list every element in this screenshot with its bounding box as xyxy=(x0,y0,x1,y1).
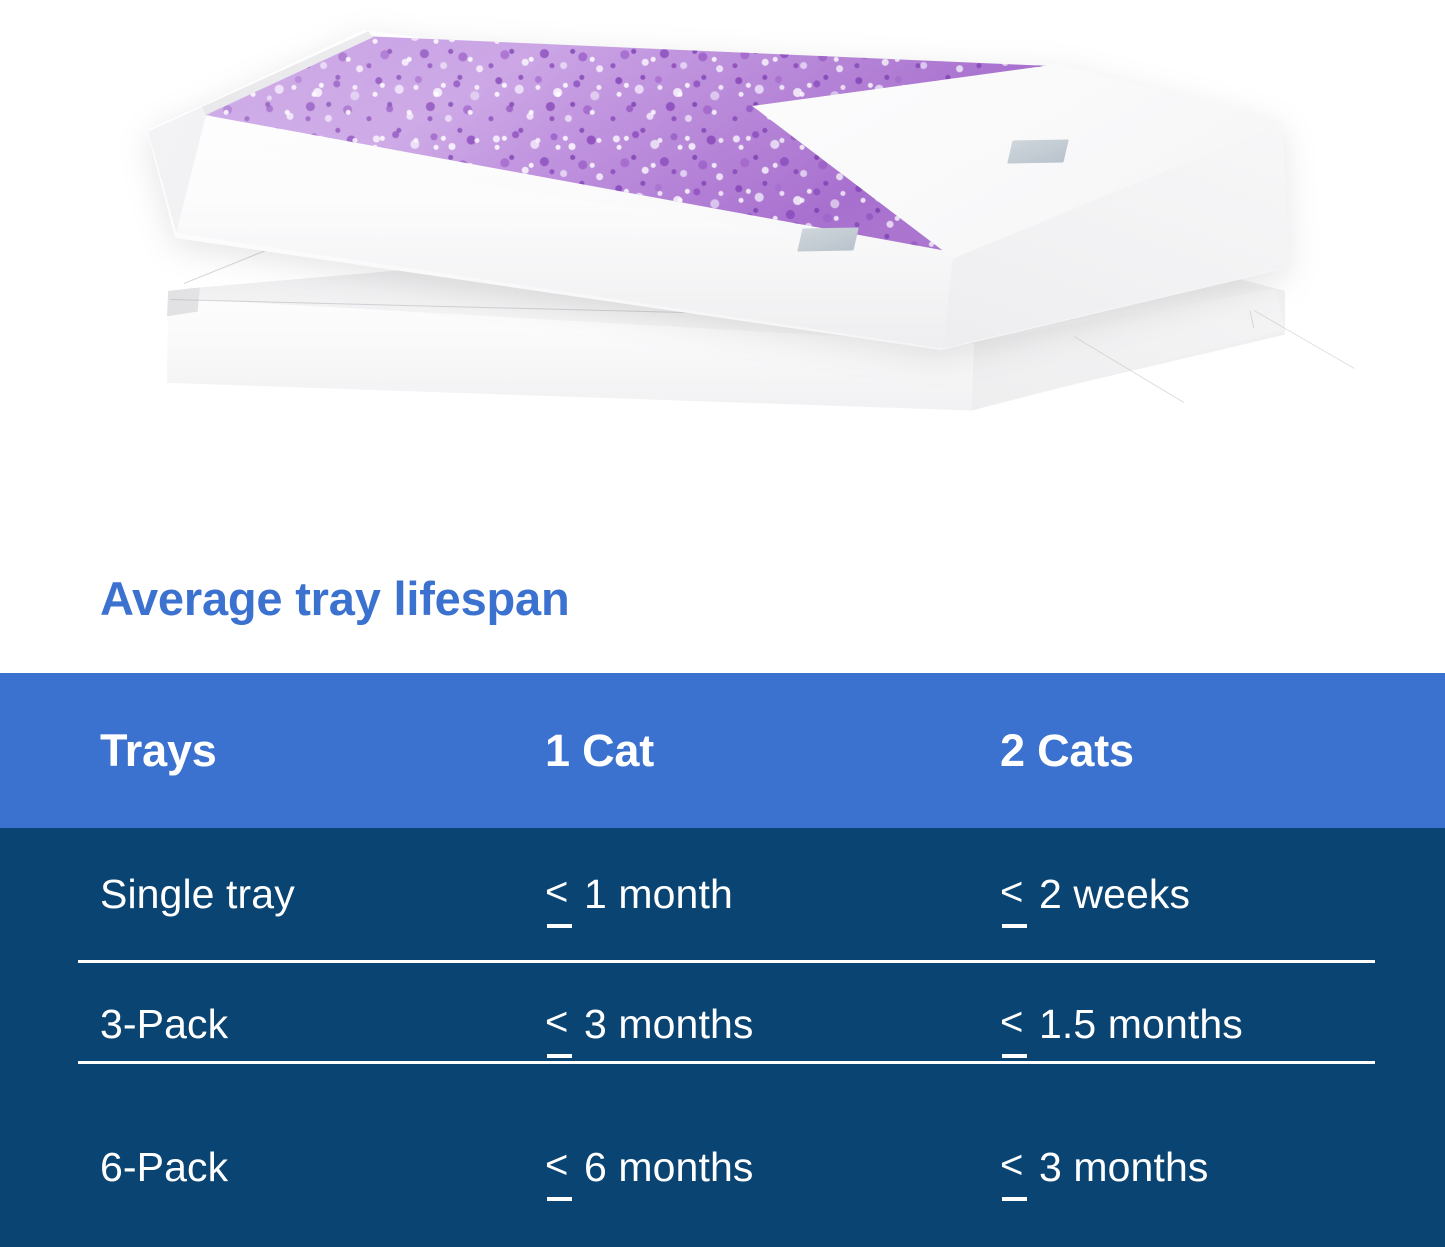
less-than-or-equal-icon: < xyxy=(1000,875,1030,915)
less-than-or-equal-icon: < xyxy=(545,1005,575,1045)
cell-one-cat-value: 3 months xyxy=(584,1001,753,1047)
cell-two-cats-lifespan: < 1.5 months xyxy=(1000,1001,1243,1048)
lte-underbar xyxy=(1002,1054,1027,1058)
lte-underbar xyxy=(547,1197,572,1201)
lte-underbar xyxy=(547,924,572,928)
lifespan-table: Trays 1 Cat 2 Cats Single tray < 1 month… xyxy=(0,673,1445,1247)
table-header: Trays 1 Cat 2 Cats xyxy=(0,673,1445,828)
cell-two-cats-value: 1.5 months xyxy=(1039,1001,1243,1047)
row-divider xyxy=(78,1061,1375,1064)
cell-two-cats-value: 3 months xyxy=(1039,1144,1208,1190)
upper-tray-fold-line-1 xyxy=(1074,336,1184,403)
upper-tray-fold-line-3 xyxy=(1254,310,1355,369)
less-than-or-equal-icon: < xyxy=(545,875,575,915)
less-than-or-equal-icon: < xyxy=(545,1148,575,1188)
cell-one-cat-value: 6 months xyxy=(584,1144,753,1190)
lte-underbar xyxy=(547,1054,572,1058)
cell-one-cat-lifespan: < 6 months xyxy=(545,1144,753,1191)
cell-tray-type: 3-Pack xyxy=(100,1001,228,1048)
table-row: 6-Pack < 6 months < 3 months xyxy=(0,1088,1445,1247)
table-row: 3-Pack < 3 months < 1.5 months xyxy=(0,960,1445,1088)
lte-underbar xyxy=(1002,1197,1027,1201)
column-header-two-cats: 2 Cats xyxy=(1000,725,1134,777)
upper-tray xyxy=(128,18,1306,418)
product-image-stage xyxy=(0,0,1445,560)
table-header-row: Trays 1 Cat 2 Cats xyxy=(0,673,1445,828)
cell-one-cat-lifespan: < 1 month xyxy=(545,871,733,918)
cell-two-cats-lifespan: < 2 weeks xyxy=(1000,871,1190,918)
page-title: Average tray lifespan xyxy=(100,571,570,626)
column-header-one-cat: 1 Cat xyxy=(545,725,654,777)
cell-two-cats-lifespan: < 3 months xyxy=(1000,1144,1208,1191)
lte-underbar xyxy=(1002,924,1027,928)
tray-tab-icon xyxy=(797,228,859,252)
upper-tray-fold-line-2 xyxy=(1250,310,1255,328)
table-row: Single tray < 1 month < 2 weeks xyxy=(0,828,1445,960)
tray-tab-icon xyxy=(1007,140,1069,164)
cell-two-cats-value: 2 weeks xyxy=(1039,871,1190,917)
column-header-trays: Trays xyxy=(100,725,217,777)
less-than-or-equal-icon: < xyxy=(1000,1005,1030,1045)
cell-one-cat-value: 1 month xyxy=(584,871,733,917)
less-than-or-equal-icon: < xyxy=(1000,1148,1030,1188)
cell-tray-type: Single tray xyxy=(100,871,295,918)
table-body: Single tray < 1 month < 2 weeks 3-Pack < xyxy=(0,828,1445,1247)
cell-one-cat-lifespan: < 3 months xyxy=(545,1001,753,1048)
cell-tray-type: 6-Pack xyxy=(100,1144,228,1191)
